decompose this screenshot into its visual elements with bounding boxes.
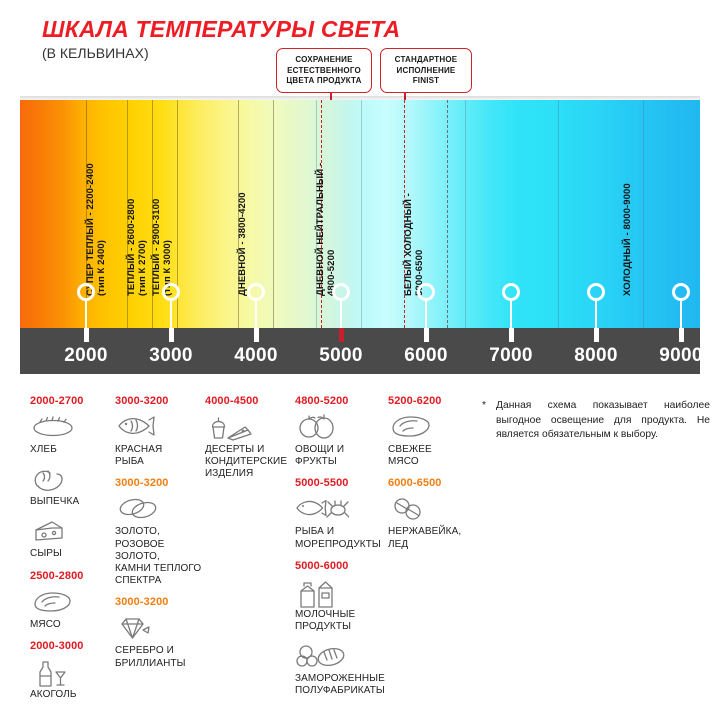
scale-tick-7000 xyxy=(509,328,514,342)
callout-line: ЕСТЕСТВЕННОГО xyxy=(281,66,367,77)
legend-item-label: СЫРЫ xyxy=(30,548,116,560)
rings-icon xyxy=(115,495,205,525)
scale-number-8000: 8000 xyxy=(574,345,617,367)
fish-icon xyxy=(115,413,205,443)
scale-tick-9000 xyxy=(679,328,684,342)
legend-group: 4000-4500ДЕСЕРТЫ И КОНДИТЕРСКИЕ ИЗДЕЛИЯ xyxy=(205,395,293,481)
legend-item: ОВОЩИ И ФРУКТЫ xyxy=(295,413,390,468)
scale-number-9000: 9000 xyxy=(659,345,702,367)
legend-group: 3000-3200ЗОЛОТО, РОЗОВОЕ ЗОЛОТО, КАМНИ Т… xyxy=(115,477,205,587)
legend-item: СВЕЖЕЕ МЯСО xyxy=(388,413,480,468)
legend-group: 6000-6500НЕРЖАВЕЙКА, ЛЕД xyxy=(388,477,480,550)
band-label-cool: ХОЛОДНЫЙ - 8000-9000 xyxy=(623,183,634,296)
legend-item-label: МОЛОЧНЫЕ ПРОДУКТЫ xyxy=(295,609,390,633)
band-label-line2: (тип К 2400) xyxy=(97,163,108,296)
legend-group: 2500-2800МЯСО xyxy=(30,570,116,631)
footnote: * Данная схема показывает наиболее выгод… xyxy=(482,399,710,443)
legend-item: ВЫПЕЧКА xyxy=(30,465,116,508)
legend-group: 2000-3000АКОГОЛЬ xyxy=(30,640,116,701)
legend-range-label: 6000-6500 xyxy=(388,477,480,489)
callout-line: FINIST xyxy=(385,76,467,87)
fresh-meat-icon xyxy=(388,413,480,443)
legend-group: 3000-3200СЕРЕБРО И БРИЛЛИАНТЫ xyxy=(115,596,205,669)
alcohol-icon xyxy=(30,658,116,688)
legend-item: МОЛОЧНЫЕ ПРОДУКТЫ xyxy=(295,578,390,633)
band-label-super-warm: СУПЕР ТЕПЛЫЙ - 2200-2400(тип К 2400) xyxy=(86,163,107,296)
scale-number-7000: 7000 xyxy=(489,345,532,367)
legend-range-label: 2000-2700 xyxy=(30,395,116,407)
legend-item: СЫРЫ xyxy=(30,517,116,560)
band-label-line2: 5800-6500 xyxy=(415,193,426,296)
scale-tick-3000 xyxy=(169,328,174,342)
band-label-daylight: ДНЕВНОЙ - 3800-4200 xyxy=(238,192,249,296)
legend-range-label: 5000-6000 xyxy=(295,560,390,572)
band-label-daylight-neutral: ДНЕВНОЙ НЕЙТРАЛЬНЫЙ -4800-5200 xyxy=(316,163,337,296)
legend-item: ЗОЛОТО, РОЗОВОЕ ЗОЛОТО, КАМНИ ТЕПЛОГО СП… xyxy=(115,495,205,587)
scale-tick-6000 xyxy=(424,328,429,342)
dessert-icon xyxy=(205,413,293,443)
legend-item-label: ЗОЛОТО, РОЗОВОЕ ЗОЛОТО, КАМНИ ТЕПЛОГО СП… xyxy=(115,526,205,587)
legend-column-col-2: 3000-3200КРАСНАЯ РЫБА3000-3200ЗОЛОТО, РО… xyxy=(115,395,205,679)
legend-column-col-5: 5200-6200СВЕЖЕЕ МЯСО6000-6500НЕРЖАВЕЙКА,… xyxy=(388,395,480,560)
callout-line: ЦВЕТА ПРОДУКТА xyxy=(281,76,367,87)
page-title: ШКАЛА ТЕМПЕРАТУРЫ СВЕТА xyxy=(42,16,400,43)
legend-column-col-3: 4000-4500ДЕСЕРТЫ И КОНДИТЕРСКИЕ ИЗДЕЛИЯ xyxy=(205,395,293,490)
legend-item: ДЕСЕРТЫ И КОНДИТЕРСКИЕ ИЗДЕЛИЯ xyxy=(205,413,293,481)
scale-number-5000: 5000 xyxy=(319,345,362,367)
scale-number-6000: 6000 xyxy=(404,345,447,367)
legend-column-col-1: 2000-2700ХЛЕБВЫПЕЧКАСЫРЫ2500-2800МЯСО200… xyxy=(30,395,116,710)
footnote-asterisk: * xyxy=(482,399,486,414)
legend-item-label: ОВОЩИ И ФРУКТЫ xyxy=(295,444,390,468)
band-label-warm-3000: ТЕПЛЫЙ - 2900-3100(тип К 3000) xyxy=(152,199,173,296)
footnote-text: Данная схема показывает наиболее выгодно… xyxy=(496,399,710,443)
band-label-line2: (тип К 2700) xyxy=(138,199,149,296)
legend-item-label: СВЕЖЕЕ МЯСО xyxy=(388,444,480,468)
band-label-line2: 4800-5200 xyxy=(327,163,338,296)
legend-group: 5000-6000МОЛОЧНЫЕ ПРОДУКТЫЗАМОРОЖЕННЫЕ П… xyxy=(295,560,390,698)
fruits-icon xyxy=(295,413,390,443)
legend-item: КРАСНАЯ РЫБА xyxy=(115,413,205,468)
band-label-line1: ДНЕВНОЙ - 3800-4200 xyxy=(238,192,249,296)
legend-range-label: 2000-3000 xyxy=(30,640,116,652)
legend-item: НЕРЖАВЕЙКА, ЛЕД xyxy=(388,495,480,550)
band-label-line2: (тип К 3000) xyxy=(163,199,174,296)
legend-item-label: ДЕСЕРТЫ И КОНДИТЕРСКИЕ ИЗДЕЛИЯ xyxy=(205,444,293,481)
legend-item: АКОГОЛЬ xyxy=(30,658,116,701)
legend-range-label: 3000-3200 xyxy=(115,477,205,489)
legend-range-label: 4800-5200 xyxy=(295,395,390,407)
legend-group: 2000-2700ХЛЕБВЫПЕЧКАСЫРЫ xyxy=(30,395,116,561)
legend-group: 5200-6200СВЕЖЕЕ МЯСО xyxy=(388,395,480,468)
pastry-icon xyxy=(30,465,116,495)
bread-icon xyxy=(30,413,116,443)
legend-item-label: СЕРЕБРО И БРИЛЛИАНТЫ xyxy=(115,645,205,669)
callout-line: СТАНДАРТНОЕ xyxy=(385,55,467,66)
scale-number-3000: 3000 xyxy=(149,345,192,367)
legend-item-label: ХЛЕБ xyxy=(30,444,116,456)
scale-tick-4000 xyxy=(254,328,259,342)
legend-item: ЗАМОРОЖЕННЫЕ ПОЛУФАБРИКАТЫ xyxy=(295,642,390,697)
legend-range-label: 5200-6200 xyxy=(388,395,480,407)
band-label-white-cool: БЕЛЫЙ ХОЛОДНЫЙ -5800-6500 xyxy=(404,193,425,296)
dairy-icon xyxy=(295,578,390,608)
page-subtitle: (В КЕЛЬВИНАХ) xyxy=(42,45,149,61)
legend-range-label: 2500-2800 xyxy=(30,570,116,582)
callout-line: СОХРАНЕНИЕ xyxy=(281,55,367,66)
legend-group: 5000-5500РЫБА И МОРЕПРОДУКТЫ xyxy=(295,477,390,550)
seafood-icon xyxy=(295,495,390,525)
legend-item: РЫБА И МОРЕПРОДУКТЫ xyxy=(295,495,390,550)
legend-range-label: 4000-4500 xyxy=(205,395,293,407)
legend-range-label: 3000-3200 xyxy=(115,596,205,608)
legend-item: СЕРЕБРО И БРИЛЛИАНТЫ xyxy=(115,614,205,669)
legend-item-label: НЕРЖАВЕЙКА, ЛЕД xyxy=(388,526,480,550)
steel-ice-icon xyxy=(388,495,480,525)
callout-finist-standard: СТАНДАРТНОЕИСПОЛНЕНИЕFINIST xyxy=(380,48,472,93)
legend-item-label: ЗАМОРОЖЕННЫЕ ПОЛУФАБРИКАТЫ xyxy=(295,673,390,697)
kelvin-scale-bar: 20003000400050006000700080009000 xyxy=(20,328,700,374)
legend-group: 4800-5200ОВОЩИ И ФРУКТЫ xyxy=(295,395,390,468)
legend-item-label: КРАСНАЯ РЫБА xyxy=(115,444,205,468)
band-label-line1: ХОЛОДНЫЙ - 8000-9000 xyxy=(623,183,634,296)
infographic-root: ШКАЛА ТЕМПЕРАТУРЫ СВЕТА (В КЕЛЬВИНАХ) СО… xyxy=(0,0,720,704)
legend-column-col-4: 4800-5200ОВОЩИ И ФРУКТЫ5000-5500РЫБА И М… xyxy=(295,395,390,707)
legend-item: ХЛЕБ xyxy=(30,413,116,456)
scale-tick-8000 xyxy=(594,328,599,342)
callout-line: ИСПОЛНЕНИЕ xyxy=(385,66,467,77)
legend-range-label: 3000-3200 xyxy=(115,395,205,407)
diamond-icon xyxy=(115,614,205,644)
legend-item-label: АКОГОЛЬ xyxy=(30,689,116,701)
legend-item: МЯСО xyxy=(30,588,116,631)
callout-natural-color: СОХРАНЕНИЕЕСТЕСТВЕННОГОЦВЕТА ПРОДУКТА xyxy=(276,48,372,93)
legend-item-label: РЫБА И МОРЕПРОДУКТЫ xyxy=(295,526,390,550)
scale-tick-5000 xyxy=(339,328,344,342)
scale-number-4000: 4000 xyxy=(234,345,277,367)
band-label-warm-2700: ТЕПЛЫЙ - 2600-2800(тип К 2700) xyxy=(127,199,148,296)
scale-number-2000: 2000 xyxy=(64,345,107,367)
legend-range-label: 5000-5500 xyxy=(295,477,390,489)
legend-item-label: МЯСО xyxy=(30,619,116,631)
legend-item-label: ВЫПЕЧКА xyxy=(30,496,116,508)
cheese-icon xyxy=(30,517,116,547)
meat-icon xyxy=(30,588,116,618)
frozen-icon xyxy=(295,642,390,672)
scale-tick-2000 xyxy=(84,328,89,342)
legend-group: 3000-3200КРАСНАЯ РЫБА xyxy=(115,395,205,468)
